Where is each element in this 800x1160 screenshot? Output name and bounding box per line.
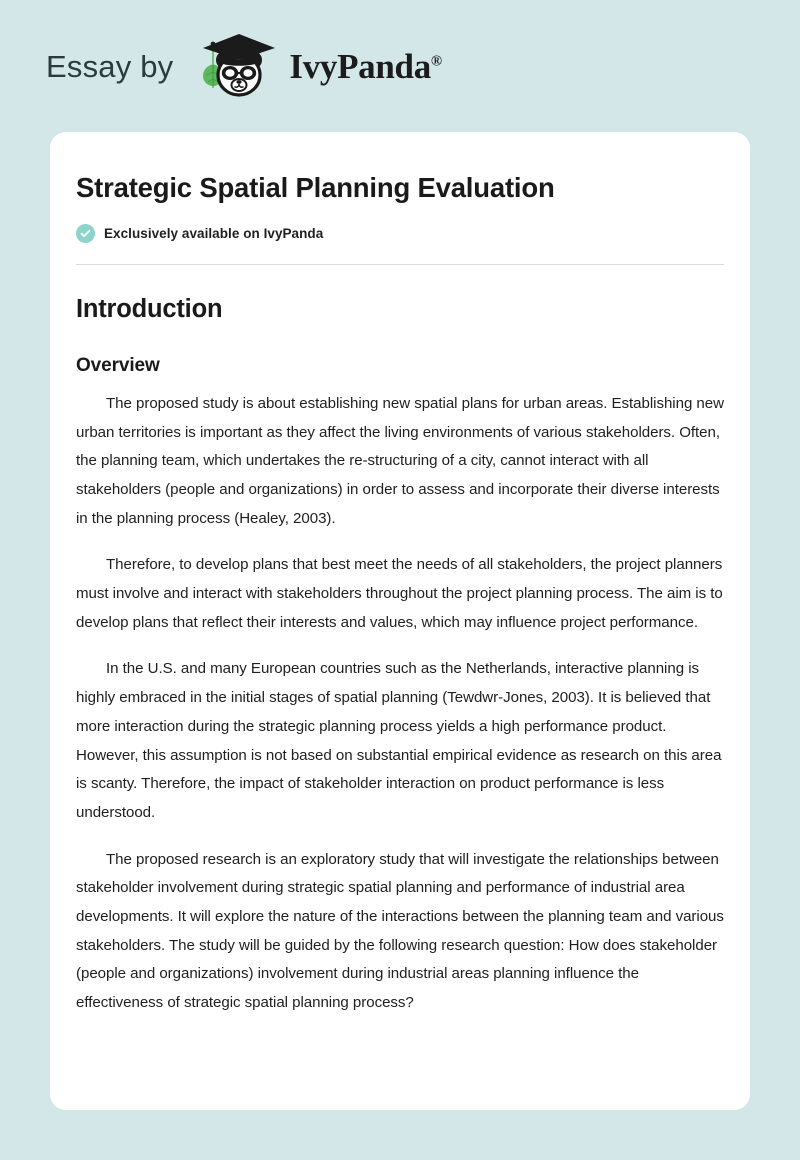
paragraph: Therefore, to develop plans that best me…	[76, 551, 724, 637]
section-heading-introduction: Introduction	[76, 294, 724, 325]
subsection-heading-overview: Overview	[76, 355, 724, 378]
paragraph: The proposed study is about establishing…	[76, 390, 724, 534]
brand-header: Essay by	[46, 28, 442, 104]
essay-body: The proposed study is about establishing…	[76, 390, 724, 1018]
registered-trademark-icon: ®	[431, 53, 442, 69]
header-divider	[76, 264, 724, 265]
check-circle-icon	[76, 224, 95, 243]
essay-by-label: Essay by	[46, 51, 173, 82]
ivypanda-wordmark: IvyPanda®	[289, 49, 441, 84]
ivypanda-panda-logo	[187, 28, 283, 104]
masthead: Essay by	[0, 0, 800, 132]
ivypanda-wordmark-text: IvyPanda	[289, 47, 431, 86]
status-badge: Exclusively available on IvyPanda	[76, 224, 724, 243]
ivypanda-brand-lockup[interactable]: IvyPanda®	[187, 28, 441, 104]
essay-card: Strategic Spatial Planning Evaluation Ex…	[50, 132, 750, 1110]
page-title: Strategic Spatial Planning Evaluation	[76, 172, 724, 204]
paragraph: The proposed research is an exploratory …	[76, 846, 724, 1018]
status-badge-label: Exclusively available on IvyPanda	[104, 226, 323, 241]
paragraph: In the U.S. and many European countries …	[76, 655, 724, 827]
